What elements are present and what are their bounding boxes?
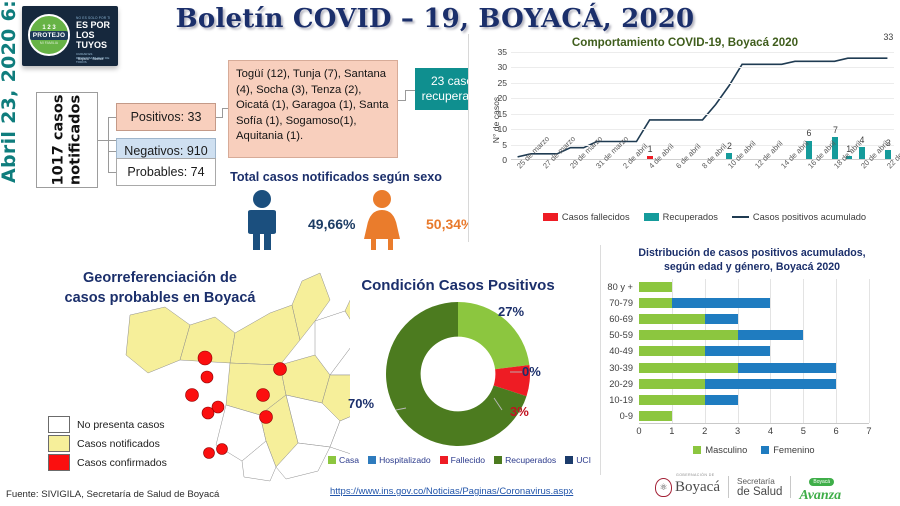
age-gender-bar-segment [705,346,771,356]
donut-legend-item: Fallecido [440,455,485,465]
age-gender-bar-segment [639,330,738,340]
page-title: Boletín COVID – 19, BOYACÁ, 2020 [175,4,695,34]
age-gender-bar-segment [639,363,738,373]
age-gender-row: 80 y + [639,279,869,295]
age-gender-xtick: 7 [866,426,871,436]
age-gender-category-label: 80 y + [607,282,633,292]
source-note: Fuente: SIVIGILA, Secretaría de Salud de… [6,489,219,500]
infographic-canvas: Abril 23, 2020 6:00 a.m. 1 2 3 PROTEJO M… [0,0,900,506]
line-chart-ytick: 35 [497,47,507,57]
gobernacion-pretitle: GOBERNACIÓN DE [676,473,715,477]
donut-legend: Casa Hospitalizado Fallecido Recuperados… [328,455,591,465]
line-chart-yticks: 05101520253035 [483,52,507,160]
age-gender-row: 50-59 [639,327,869,343]
connector-to-positives [108,117,116,118]
donut-legend-label-fallecido: Fallecido [451,455,485,465]
age-gender-bar-segment [705,314,738,324]
logo-divider-1 [728,476,729,498]
age-gender-row: 60-69 [639,311,869,327]
protejo-seal: 1 2 3 PROTEJO MI FAMILIA [28,14,70,56]
map-legend: No presenta casos Casos notificados Caso… [48,415,167,472]
age-gender-xtick: 6 [834,426,839,436]
badge-logos: Boyacá Avanza [78,57,103,61]
line-chart-bar-label: 6 [806,128,811,138]
age-legend-swatch-femenino [761,446,769,454]
male-figure-icon [248,190,276,250]
connector-pos-up [222,108,223,118]
age-gender-row: 0-9 [639,408,869,424]
connector-rec-up [405,90,406,101]
donut-label-fallecido: 3% [510,404,529,419]
towns-breakdown-box: Togüí (12), Tunja (7), Santana (4), Soch… [228,60,398,158]
connector-trunk-v [108,117,109,172]
map-legend-label-none: No presenta casos [77,419,165,431]
age-gender-plot: 0-910-1920-2930-3940-4950-5960-6970-7980… [639,279,869,424]
donut-chart: 27% 0% 3% 70% [382,298,534,450]
line-chart-bar-label: 2 [727,141,732,151]
age-gender-title-line1: Distribución de casos positivos acumulad… [638,247,865,259]
age-gender-xticks: 01234567 [639,426,869,440]
age-gender-xtick: 3 [735,426,740,436]
age-gender-bar-segment [639,298,672,308]
map-legend-item: No presenta casos [48,415,167,434]
gobernacion-logo: ⚛ GOBERNACIÓN DE Boyacá [655,478,720,497]
map-legend-swatch-notified [48,435,70,452]
footer-logos: ⚛ GOBERNACIÓN DE Boyacá Secretaría de Sa… [655,470,841,504]
badge-headline-2: LOS TUYOS [76,30,118,50]
age-gender-xtick: 5 [801,426,806,436]
map-title: Georreferenciación de casos probables en… [40,268,280,308]
connector-to-probables [108,172,116,173]
line-chart-ytick: 0 [502,155,507,165]
donut-legend-label-recuperados: Recuperados [505,455,556,465]
age-gender-category-label: 50-59 [609,330,633,340]
donut-legend-swatch-recuperados [494,456,502,464]
female-figure-icon [364,190,400,250]
age-gender-category-label: 20-29 [609,379,633,389]
line-chart-bar-label: 7 [833,125,838,135]
line-chart-gridline [511,114,894,115]
age-gender-xtick: 4 [768,426,773,436]
donut-label-recuperados: 70% [348,396,374,411]
age-gender-bar-segment [639,314,705,324]
line-legend-swatch-recuperados [644,213,659,221]
donut-legend-item: Casa [328,455,359,465]
donut-legend-item: Recuperados [494,455,556,465]
avanza-tag: Boyacá [809,478,834,486]
connector-to-negatives [108,151,116,152]
map-legend-label-notified: Casos notificados [77,438,160,450]
line-chart-gridline [511,52,894,53]
line-chart-gridline [511,98,894,99]
line-chart-xlabels: 25 de marzo27 de marzo29 de marzo31 de m… [511,162,894,204]
male-percent: 49,66% [308,216,355,232]
connector-to-recovered [405,90,415,91]
donut-label-hospitalizado: 0% [522,364,541,379]
line-legend-swatch-fallecidos [543,213,558,221]
donut-chart-title: Condición Casos Positivos [358,277,558,294]
female-percent: 50,34% [426,216,473,232]
line-end-label: 33 [883,32,893,42]
line-chart-ytick: 15 [497,109,507,119]
age-gender-bar-segment [705,379,836,389]
age-gender-chart-title: Distribución de casos positivos acumulad… [607,246,897,274]
boyaca-avanza-logo: Boyacá Avanza [799,470,841,504]
donut-legend-swatch-casa [328,456,336,464]
campaign-badge: 1 2 3 PROTEJO MI FAMILIA NO ES SOLO POR … [22,6,118,66]
total-cases-text: 1017 casos notificados [50,94,84,185]
donut-legend-swatch-uci [565,456,573,464]
age-gender-bar-segment [639,395,705,405]
age-legend-item: Femenino [761,445,814,455]
age-gender-category-label: 40-49 [609,346,633,356]
map-title-line1: Georreferenciación de [83,270,237,286]
line-chart-title: Comportamiento COVID-19, Boyacá 2020 [469,36,900,49]
map-legend-item: Casos notificados [48,434,167,453]
badge-headline-1: ES POR [76,20,118,30]
connector-trunk-h [98,140,116,141]
map-legend-label-confirmed: Casos confirmados [77,457,167,469]
line-chart-ytick: 10 [497,124,507,134]
line-legend-swatch-acumulado [732,216,749,219]
avanza-name: Avanza [799,488,841,504]
positives-box: Positivos: 33 [116,103,216,131]
age-legend-item: Masculino [693,445,747,455]
map-legend-swatch-none [48,416,70,433]
age-gender-xtick: 1 [669,426,674,436]
donut-label-casa: 27% [498,304,524,319]
age-gender-category-label: 30-39 [609,363,633,373]
line-chart-ytick: 30 [497,62,507,72]
map-title-line2: casos probables en Boyacá [65,290,256,306]
age-gender-bar-segment [639,411,672,421]
donut-legend-label-uci: UCI [576,455,591,465]
age-legend-swatch-masculino [693,446,701,454]
age-gender-gridline [869,279,870,423]
ins-source-link[interactable]: https://www.ins.gov.co/Noticias/Paginas/… [330,486,573,497]
line-legend-label-recuperados: Recuperados [663,212,718,222]
age-gender-bar-segment [639,282,672,292]
age-gender-category-label: 60-69 [609,314,633,324]
probables-box: Probables: 74 [116,158,216,186]
donut-legend-swatch-fallecido [440,456,448,464]
age-gender-category-label: 0-9 [620,411,633,421]
age-gender-bar-segment [738,363,837,373]
donut-legend-item: UCI [565,455,591,465]
seal-subtitle: MI FAMILIA [40,41,58,45]
donut-legend-item: Hospitalizado [368,455,431,465]
map-legend-swatch-confirmed [48,454,70,471]
logo-divider-2 [790,476,791,498]
sex-figures: 49,66% 50,34% [230,188,455,250]
total-cases-line2: notificados [67,95,83,185]
line-chart-ytick: 20 [497,93,507,103]
connector-towns-out [398,100,405,101]
age-gender-bar-segment [738,330,804,340]
donut-legend-swatch-hospitalizado [368,456,376,464]
line-chart-ytick: 5 [502,140,507,150]
age-gender-row: 10-19 [639,392,869,408]
line-chart-gridline [511,67,894,68]
line-legend-item: Casos fallecidos [543,212,630,222]
age-gender-row: 20-29 [639,376,869,392]
age-gender-bar-segment [705,395,738,405]
line-legend-item: Recuperados [644,212,718,222]
donut-legend-label-hospitalizado: Hospitalizado [379,455,431,465]
line-chart-panel: Comportamiento COVID-19, Boyacá 2020 N° … [468,34,900,242]
line-legend-label-fallecidos: Casos fallecidos [562,212,630,222]
age-gender-bar-segment [639,346,705,356]
gobernacion-name: Boyacá [675,479,720,495]
line-chart-gridline [511,83,894,84]
age-gender-category-label: 10-19 [609,395,633,405]
total-cases-box: 1017 casos notificados [36,92,98,188]
map-region-puerto-boyaca [126,307,190,373]
age-gender-category-label: 70-79 [609,298,633,308]
age-gender-bar-segment [639,379,705,389]
age-gender-title-line2: según edad y género, Boyacá 2020 [664,261,840,273]
sex-section-title: Total casos notificados según sexo [228,170,444,184]
coat-of-arms-icon: ⚛ [655,478,672,497]
donut-legend-label-casa: Casa [339,455,359,465]
age-gender-bar-segment [672,298,771,308]
donut-svg [382,298,534,450]
age-gender-row: 40-49 [639,343,869,359]
badge-logo-boyaca: Boyacá [78,57,89,61]
age-gender-row: 70-79 [639,295,869,311]
line-legend-label-acumulado: Casos positivos acumulado [753,212,866,222]
age-legend-label-masculino: Masculino [705,445,747,455]
secretaria-salud-logo: Secretaría de Salud [737,477,782,498]
age-gender-legend: Masculino Femenino [639,445,869,455]
line-chart-legend: Casos fallecidos Recuperados Casos posit… [513,212,896,222]
line-legend-item: Casos positivos acumulado [732,212,866,222]
seal-protejo: PROTEJO [30,31,68,40]
badge-logo-avanza: Avanza [93,57,104,61]
secretaria-line2: de Salud [737,486,782,498]
age-legend-label-femenino: Femenino [773,445,814,455]
age-gender-row: 30-39 [639,360,869,376]
map-region-north-west [230,305,300,365]
total-cases-line1: 1017 casos [50,94,66,185]
line-chart-ytick: 25 [497,78,507,88]
age-gender-xtick: 2 [702,426,707,436]
age-gender-chart-panel: Distribución de casos positivos acumulad… [600,245,900,475]
map-legend-item: Casos confirmados [48,453,167,472]
age-gender-xtick: 0 [636,426,641,436]
